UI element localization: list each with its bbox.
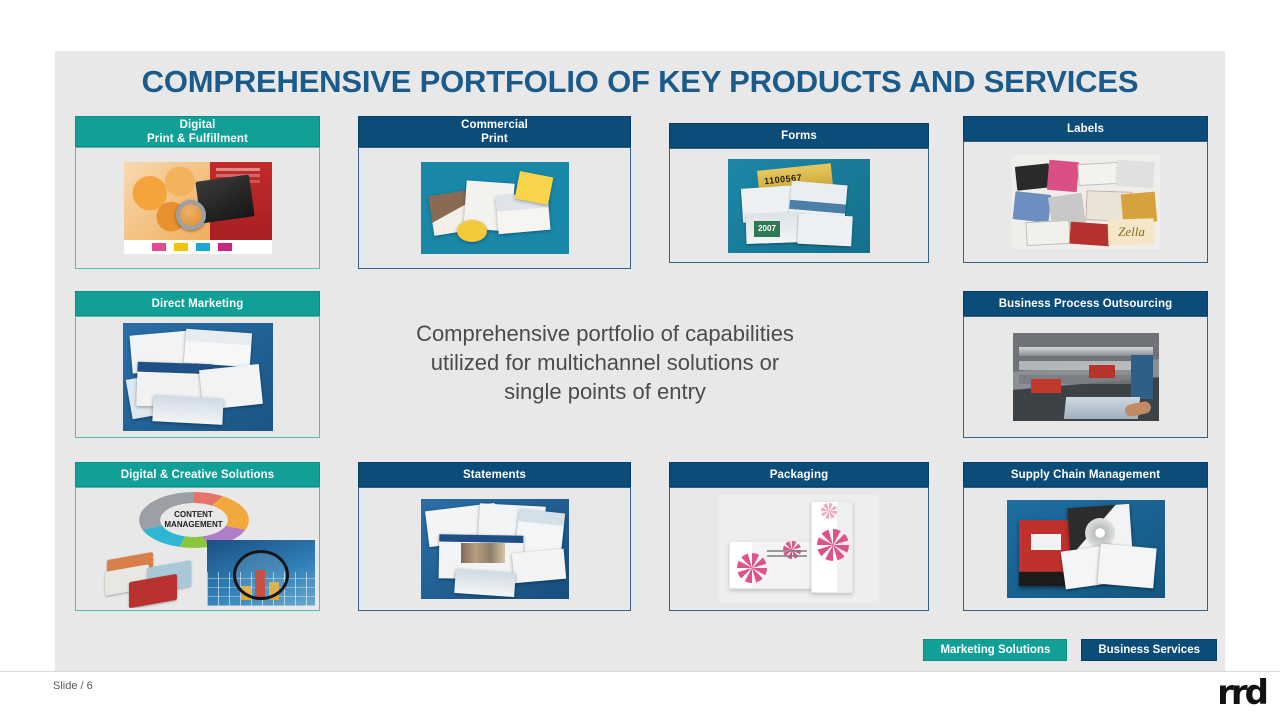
card-title-line1: Forms [781,129,817,143]
year-label: 2007 [754,221,780,237]
center-message-line3: single points of entry [395,377,815,406]
color-control-bars [124,240,272,254]
card-title-line1: Commercial [461,118,528,132]
page-title: COMPREHENSIVE PORTFOLIO OF KEY PRODUCTS … [55,64,1225,100]
card-packaging[interactable]: Packaging [669,462,929,611]
card-title-line1: Digital & Creative Solutions [121,468,275,482]
card-body-digital-creative-solutions: CONTENT MANAGEMENT [75,487,320,611]
label-sample [1025,220,1070,246]
card-statements[interactable]: Statements [358,462,631,611]
card-body-labels: Zella [963,141,1208,263]
machine-part [1089,365,1115,378]
carton-text-block [767,547,807,557]
card-header-forms: Forms [669,123,929,148]
label-sample [1046,160,1079,193]
card-header-packaging: Packaging [669,462,929,487]
card-title-line1: Digital [180,118,216,132]
people-photo-region [461,543,505,563]
machine-part [1131,355,1153,399]
cycle-label-line1: CONTENT [174,510,213,520]
center-message-line1: Comprehensive portfolio of capabilities [395,319,815,348]
card-commercial-print[interactable]: Commercial Print [358,116,631,269]
image-statements [421,499,569,599]
statement-page [454,569,516,597]
slide-counter: Slide / 6 [53,680,93,692]
card-title-line1: Direct Marketing [152,297,244,311]
card-title-line1: Packaging [770,468,828,482]
image-forms: 1100567 2007 [728,159,870,253]
script-label-text: Zella [1110,221,1154,243]
card-body-statements [358,487,631,611]
loupe-icon [176,200,206,230]
label-sample [1014,163,1050,190]
card-body-digital-print-fulfillment [75,147,320,269]
card-title-line1: Labels [1067,122,1104,136]
card-body-supply-chain-management [963,487,1208,611]
machine-part [1031,379,1061,393]
card-direct-marketing[interactable]: Direct Marketing [75,291,320,438]
card-header-statements: Statements [358,462,631,487]
image-commercial-print [421,162,569,254]
form-document [797,213,852,246]
slide-canvas: COMPREHENSIVE PORTFOLIO OF KEY PRODUCTS … [55,51,1225,671]
card-title-line1: Statements [463,468,526,482]
image-digital-print-fulfillment [124,162,272,254]
image-direct-marketing [123,323,273,431]
card-header-business-process-outsourcing: Business Process Outsourcing [963,291,1208,316]
card-body-packaging [669,487,929,611]
card-body-forms: 1100567 2007 [669,148,929,263]
floral-graphic [817,529,849,561]
card-supply-chain-management[interactable]: Supply Chain Management [963,462,1208,611]
floral-graphic [821,503,837,519]
card-title-line2: Print & Fulfillment [147,132,248,146]
center-message-line2: utilized for multichannel solutions or [395,348,815,377]
card-header-direct-marketing: Direct Marketing [75,291,320,316]
cycle-center-label: CONTENT MANAGEMENT [153,507,235,533]
footer-divider [0,671,1280,672]
legend-label: Marketing Solutions [940,644,1050,656]
card-title-line1: Business Process Outsourcing [999,297,1172,311]
legend-label: Business Services [1098,644,1200,656]
center-message: Comprehensive portfolio of capabilities … [395,319,815,406]
documentation-sheet [1097,544,1156,589]
label-sample [1069,222,1110,247]
card-labels[interactable]: Labels Zella [963,116,1208,263]
legend: Marketing Solutions Business Services [923,639,1217,661]
card-body-direct-marketing [75,316,320,438]
card-forms[interactable]: Forms 1100567 2007 [669,123,929,263]
image-business-process-outsourcing [1013,333,1159,421]
analytics-visual [207,540,315,606]
rrd-logo: rrd [1217,676,1266,710]
image-packaging [719,495,879,603]
label-sample [1012,191,1051,223]
mail-piece [183,329,251,368]
magnifier-icon [233,550,289,600]
packaging-boxes-group [103,550,199,604]
card-body-commercial-print [358,147,631,269]
card-title-line1: Supply Chain Management [1011,468,1160,482]
mail-piece [152,395,223,425]
card-business-process-outsourcing[interactable]: Business Process Outsourcing [963,291,1208,438]
brochure-piece [457,220,487,242]
card-digital-print-fulfillment[interactable]: Digital Print & Fulfillment [75,116,320,269]
legend-item-business-services[interactable]: Business Services [1081,639,1217,661]
label-sample [1115,160,1155,189]
card-header-digital-print-fulfillment: Digital Print & Fulfillment [75,116,320,147]
card-title-line2: Print [481,132,508,146]
card-header-commercial-print: Commercial Print [358,116,631,147]
image-labels: Zella [1012,155,1160,249]
floral-graphic [737,553,767,583]
cycle-label-line2: MANAGEMENT [164,520,222,530]
card-digital-creative-solutions[interactable]: Digital & Creative Solutions CONTENT MAN… [75,462,320,611]
label-sample [1077,162,1118,186]
legend-item-marketing-solutions[interactable]: Marketing Solutions [923,639,1067,661]
image-supply-chain-management [1007,500,1165,598]
card-body-business-process-outsourcing [963,316,1208,438]
card-header-labels: Labels [963,116,1208,141]
image-digital-creative-solutions: CONTENT MANAGEMENT [81,490,315,608]
card-header-digital-creative-solutions: Digital & Creative Solutions [75,462,320,487]
statement-page [511,549,565,583]
card-header-supply-chain-management: Supply Chain Management [963,462,1208,487]
